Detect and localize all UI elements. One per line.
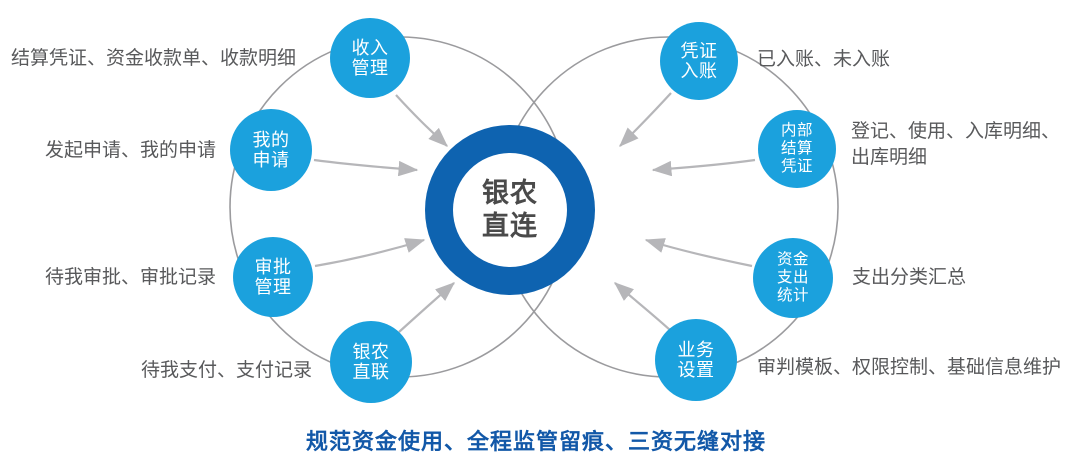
node-label-line: 业务 <box>678 340 715 360</box>
node-label-line: 管理 <box>255 277 292 297</box>
node-label-line: 收入 <box>352 38 389 58</box>
node-internal-voucher[interactable]: 内部 结算 凭证 <box>758 110 836 188</box>
node-label-line: 内部 <box>781 122 813 140</box>
node-label-line: 支出 <box>777 269 809 287</box>
caption-my-application: 发起申请、我的申请 <box>0 138 216 164</box>
hub-label-line1: 银农 <box>482 177 538 210</box>
node-label-line: 设置 <box>678 360 715 380</box>
caption-voucher-entry: 已入账、未入账 <box>757 47 1017 73</box>
node-label-line: 统计 <box>777 287 809 305</box>
node-label-line: 审批 <box>255 257 292 277</box>
arrow-bank-direct-link <box>399 283 454 332</box>
node-label-line: 申请 <box>253 150 290 170</box>
hub-label: 银农 直连 <box>453 153 567 267</box>
node-approval-management[interactable]: 审批 管理 <box>233 237 313 317</box>
hub-ring: 银农 直连 <box>425 125 595 295</box>
node-label-line: 凭证 <box>781 158 813 176</box>
arrow-income-management <box>396 95 447 146</box>
caption-bank-direct-link: 待我支付、支付记录 <box>92 358 312 384</box>
arrow-business-settings <box>615 283 670 330</box>
node-expense-statistics[interactable]: 资金 支出 统计 <box>753 238 833 318</box>
node-label-line: 银农 <box>353 342 390 362</box>
node-label-line: 结算 <box>781 140 813 158</box>
node-label-line: 凭证 <box>681 41 718 61</box>
hub-label-line2: 直连 <box>482 210 538 243</box>
node-my-application[interactable]: 我的 申请 <box>230 109 312 191</box>
node-label-line: 入账 <box>681 61 718 81</box>
node-label-line: 直联 <box>353 362 390 382</box>
node-bank-direct-link[interactable]: 银农 直联 <box>330 321 412 403</box>
caption-expense-statistics: 支出分类汇总 <box>852 265 1052 291</box>
node-label-line: 我的 <box>253 130 290 150</box>
arrow-internal-voucher <box>653 160 755 170</box>
diagram-canvas: 银农 直连 收入 管理 我的 申请 审批 管理 银农 直联 凭证 入账 内部 结… <box>0 0 1072 471</box>
node-voucher-entry[interactable]: 凭证 入账 <box>660 22 738 100</box>
caption-business-settings: 审判模板、权限控制、基础信息维护 <box>757 355 1072 381</box>
arrow-expense-statistics <box>646 240 752 266</box>
caption-approval-management: 待我审批、审批记录 <box>0 265 216 291</box>
node-income-management[interactable]: 收入 管理 <box>330 18 410 98</box>
node-business-settings[interactable]: 业务 设置 <box>655 319 737 401</box>
arrow-voucher-entry <box>620 93 671 146</box>
arrow-approval-management <box>315 240 424 266</box>
node-label-line: 管理 <box>352 58 389 78</box>
arrow-my-application <box>314 160 417 170</box>
node-label-line: 资金 <box>777 251 809 269</box>
caption-internal-voucher: 登记、使用、入库明细、 出库明细 <box>851 119 1072 170</box>
footer-slogan: 规范资金使用、全程监管留痕、三资无缝对接 <box>0 424 1072 456</box>
caption-income-management: 结算凭证、资金收款单、收款明细 <box>0 46 296 72</box>
